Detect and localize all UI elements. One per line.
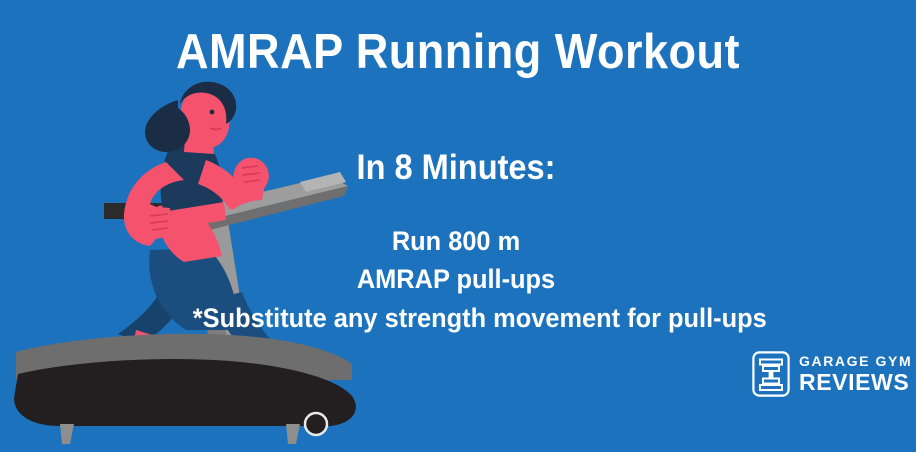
workout-poster: AMRAP Running Workout In 8 Minutes: Run … bbox=[0, 0, 916, 452]
workout-line-2: AMRAP pull-ups bbox=[193, 260, 719, 298]
bench-press-icon bbox=[752, 351, 790, 397]
treadmill-foot-right bbox=[286, 424, 300, 444]
treadmill-wheel-right bbox=[305, 413, 327, 435]
page-title: AMRAP Running Workout bbox=[37, 26, 880, 80]
logo-bottom-text: REVIEWS bbox=[799, 371, 912, 394]
workout-lines: Run 800 m AMRAP pull-ups *Substitute any… bbox=[176, 222, 736, 337]
workout-subtitle: In 8 Minutes: bbox=[242, 148, 670, 188]
runner-eye bbox=[210, 110, 215, 115]
brand-logo: GARAGE GYM REVIEWS bbox=[752, 350, 892, 398]
workout-line-3: *Substitute any strength movement for pu… bbox=[193, 299, 719, 337]
logo-wordmark: GARAGE GYM REVIEWS bbox=[799, 354, 912, 394]
workout-line-1: Run 800 m bbox=[193, 222, 719, 260]
logo-top-text: GARAGE GYM bbox=[799, 354, 912, 368]
treadmill-foot-left bbox=[60, 424, 74, 444]
